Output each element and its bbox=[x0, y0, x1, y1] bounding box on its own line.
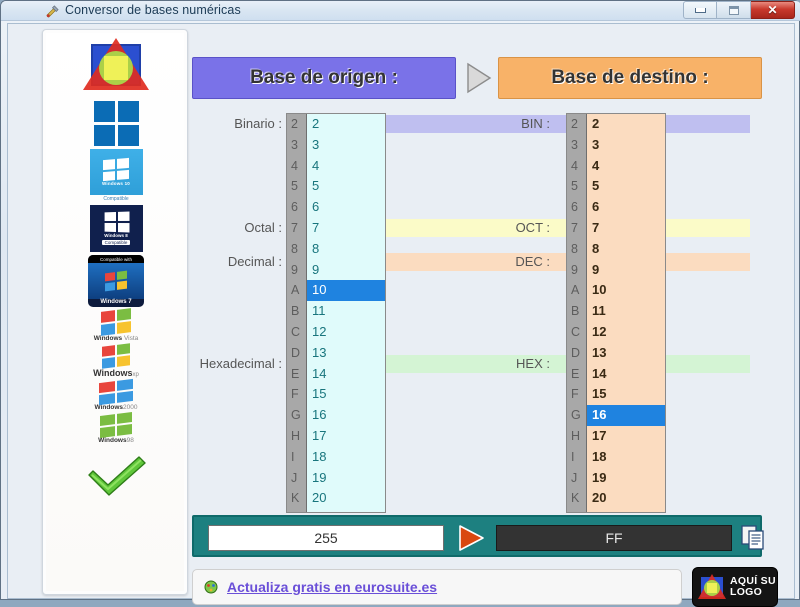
minimize-icon bbox=[695, 8, 706, 13]
maximize-button[interactable] bbox=[717, 1, 751, 19]
gutter-key: 7 bbox=[287, 218, 306, 239]
list-item[interactable]: 14 bbox=[587, 364, 665, 385]
source-value-input[interactable]: 255 bbox=[208, 525, 444, 551]
windows-8-label: Windows 8 bbox=[104, 233, 127, 238]
list-item[interactable]: 16 bbox=[307, 405, 385, 426]
gutter-key: C bbox=[287, 322, 306, 343]
list-item[interactable]: 5 bbox=[307, 176, 385, 197]
source-gutter-keys: 23456789ABCDEFGHIJKLNMO bbox=[287, 114, 307, 512]
row-label-octal: Octal : bbox=[190, 220, 282, 235]
gutter-key: A bbox=[567, 280, 586, 301]
windows-98-caption: 98 bbox=[127, 437, 134, 444]
list-item[interactable]: 9 bbox=[587, 260, 665, 281]
windows-10-caption: Compatible bbox=[103, 196, 128, 202]
gutter-key: D bbox=[287, 343, 306, 364]
windows-8-compatible-badge: Windows 8 Compatible bbox=[90, 205, 143, 252]
list-item[interactable]: 8 bbox=[587, 239, 665, 260]
gutter-key: B bbox=[287, 301, 306, 322]
dest-base-items[interactable]: 23456789101112131415161718192021222324 bbox=[587, 114, 665, 512]
windows-8-caption: Compatible bbox=[102, 240, 131, 245]
result-value-output: FF bbox=[496, 525, 732, 551]
gutter-key: B bbox=[567, 301, 586, 322]
gutter-key: F bbox=[567, 384, 586, 405]
list-item[interactable]: 21 bbox=[587, 509, 665, 513]
row-label-hex: HEX : bbox=[490, 356, 550, 371]
dest-base-header: Base de destino : bbox=[498, 57, 762, 99]
windows-10-label: Windows 10 bbox=[102, 181, 130, 186]
list-item[interactable]: 6 bbox=[587, 197, 665, 218]
list-item[interactable]: 9 bbox=[307, 260, 385, 281]
row-label-hexadecimal: Hexadecimal : bbox=[190, 356, 282, 371]
gutter-key: 7 bbox=[567, 218, 586, 239]
gutter-key: I bbox=[567, 447, 586, 468]
gutter-key: A bbox=[287, 280, 306, 301]
windows-vista-label: Windows bbox=[94, 335, 122, 342]
gutter-key: 2 bbox=[567, 114, 586, 135]
list-item[interactable]: 5 bbox=[587, 176, 665, 197]
gutter-key: H bbox=[567, 426, 586, 447]
gutter-key: G bbox=[287, 405, 306, 426]
maximize-icon bbox=[729, 6, 739, 15]
windows-xp-label: Windows bbox=[93, 368, 132, 378]
gutter-key: L bbox=[287, 509, 306, 513]
compatibility-sidebar: Windows 10 Compatible Windows 8 Compatib… bbox=[42, 29, 188, 595]
gutter-key: 8 bbox=[287, 239, 306, 260]
list-item[interactable]: 7 bbox=[587, 218, 665, 239]
windows-7-label: Windows 7 bbox=[100, 299, 131, 307]
minimize-button[interactable] bbox=[683, 1, 717, 19]
windows-7-caption: Compatible with bbox=[88, 255, 144, 263]
gutter-key: J bbox=[567, 468, 586, 489]
list-item[interactable]: 20 bbox=[587, 488, 665, 509]
list-item[interactable]: 8 bbox=[307, 239, 385, 260]
gutter-key: C bbox=[567, 322, 586, 343]
close-button[interactable]: ✕ bbox=[751, 1, 795, 19]
gutter-key: K bbox=[567, 488, 586, 509]
gutter-key: E bbox=[287, 364, 306, 385]
gutter-key: 3 bbox=[567, 135, 586, 156]
windows-vista-badge: Windows Vista bbox=[94, 310, 139, 342]
list-item[interactable]: 20 bbox=[307, 488, 385, 509]
list-item[interactable]: 18 bbox=[307, 447, 385, 468]
title-bar[interactable]: Conversor de bases numéricas ✕ bbox=[1, 1, 800, 21]
update-icon bbox=[203, 579, 219, 595]
list-item[interactable]: 7 bbox=[307, 218, 385, 239]
gutter-key: 4 bbox=[567, 156, 586, 177]
list-item[interactable]: 12 bbox=[587, 322, 665, 343]
triangle-right-icon bbox=[462, 61, 494, 95]
source-base-header: Base de origen : bbox=[192, 57, 456, 99]
sponsor-logo-icon bbox=[697, 572, 727, 602]
gutter-key: 6 bbox=[287, 197, 306, 218]
list-item[interactable]: 16 bbox=[587, 405, 665, 426]
dest-base-listbox[interactable]: 23456789ABCDEFGHIJKLNMO 2345678910111213… bbox=[566, 113, 666, 513]
windows-vista-caption: Vista bbox=[124, 335, 138, 342]
gutter-key: D bbox=[567, 343, 586, 364]
list-item[interactable]: 3 bbox=[307, 135, 385, 156]
dest-gutter-keys: 23456789ABCDEFGHIJKLNMO bbox=[567, 114, 587, 512]
gutter-key: 5 bbox=[567, 176, 586, 197]
list-item[interactable]: 13 bbox=[587, 343, 665, 364]
source-base-items[interactable]: 23456789101112131415161718192021222324 bbox=[307, 114, 385, 512]
gutter-key: 3 bbox=[287, 135, 306, 156]
list-item[interactable]: 3 bbox=[587, 135, 665, 156]
gutter-key: F bbox=[287, 384, 306, 405]
close-icon: ✕ bbox=[767, 3, 777, 17]
gutter-key: G bbox=[567, 405, 586, 426]
client-area: Windows 10 Compatible Windows 8 Compatib… bbox=[7, 23, 795, 599]
source-base-listbox[interactable]: 23456789ABCDEFGHIJKLNMO 2345678910111213… bbox=[286, 113, 386, 513]
gutter-key: I bbox=[287, 447, 306, 468]
badge-list: Windows 10 Compatible Windows 8 Compatib… bbox=[43, 36, 188, 497]
list-item[interactable]: 18 bbox=[587, 447, 665, 468]
windows-11-logo bbox=[94, 101, 139, 146]
gutter-key: 9 bbox=[567, 260, 586, 281]
windows-10-compatible-badge: Windows 10 Compatible bbox=[90, 149, 143, 202]
row-label-binario: Binario : bbox=[190, 116, 282, 131]
sponsor-logo-line2: LOGO bbox=[730, 587, 776, 598]
sponsor-logo-box[interactable]: AQUÍ SU LOGO bbox=[692, 567, 778, 607]
list-item[interactable]: 10 bbox=[587, 280, 665, 301]
list-item[interactable]: 17 bbox=[307, 426, 385, 447]
list-item[interactable]: 19 bbox=[587, 468, 665, 489]
list-item[interactable]: 2 bbox=[307, 114, 385, 135]
windows-2000-badge: Windows2000 bbox=[95, 381, 138, 411]
windows-xp-caption: xp bbox=[133, 372, 139, 378]
list-item[interactable]: 15 bbox=[587, 384, 665, 405]
list-item[interactable]: 4 bbox=[587, 156, 665, 177]
list-item[interactable]: 15 bbox=[307, 384, 385, 405]
convert-arrow-icon[interactable] bbox=[456, 524, 486, 552]
app-tools-icon bbox=[45, 4, 60, 19]
list-item[interactable]: 21 bbox=[307, 509, 385, 513]
verified-check-badge bbox=[83, 447, 149, 497]
gutter-key: 8 bbox=[567, 239, 586, 260]
list-item[interactable]: 10 bbox=[307, 280, 385, 301]
converter-panel: Base de origen : Base de destino : Binar… bbox=[190, 29, 790, 595]
gutter-key: 2 bbox=[287, 114, 306, 135]
gutter-key: 5 bbox=[287, 176, 306, 197]
copy-icon[interactable] bbox=[738, 523, 768, 553]
row-label-decimal: Decimal : bbox=[190, 254, 282, 269]
list-item[interactable]: 6 bbox=[307, 197, 385, 218]
window-controls: ✕ bbox=[683, 1, 795, 19]
list-item[interactable]: 11 bbox=[587, 301, 665, 322]
window-title: Conversor de bases numéricas bbox=[65, 3, 241, 17]
app-logo bbox=[79, 36, 153, 98]
gutter-key: 6 bbox=[567, 197, 586, 218]
row-label-bin: BIN : bbox=[490, 116, 550, 131]
list-item[interactable]: 13 bbox=[307, 343, 385, 364]
gutter-key: L bbox=[567, 509, 586, 513]
windows-98-label: Windows bbox=[98, 437, 126, 444]
gutter-key: J bbox=[287, 468, 306, 489]
gutter-key: 4 bbox=[287, 156, 306, 177]
windows-7-compatible-badge: Compatible with Windows 7 bbox=[88, 255, 144, 307]
row-label-dec: DEC : bbox=[490, 254, 550, 269]
list-item[interactable]: 11 bbox=[307, 301, 385, 322]
list-item[interactable]: 14 bbox=[307, 364, 385, 385]
list-item[interactable]: 17 bbox=[587, 426, 665, 447]
gutter-key: H bbox=[287, 426, 306, 447]
gutter-key: 9 bbox=[287, 260, 306, 281]
app-window: Conversor de bases numéricas ✕ bbox=[0, 0, 800, 600]
windows-2000-caption: 2000 bbox=[123, 404, 137, 411]
list-item[interactable]: 2 bbox=[587, 114, 665, 135]
gutter-key: E bbox=[567, 364, 586, 385]
gutter-key: K bbox=[287, 488, 306, 509]
conversion-bar: 255 FF bbox=[192, 515, 762, 557]
update-link[interactable]: Actualiza gratis en eurosuite.es bbox=[227, 579, 437, 595]
list-item[interactable]: 19 bbox=[307, 468, 385, 489]
list-item[interactable]: 12 bbox=[307, 322, 385, 343]
windows-98-badge: Windows98 bbox=[98, 414, 134, 444]
list-item[interactable]: 4 bbox=[307, 156, 385, 177]
windows-xp-badge: Windowsxp bbox=[93, 345, 139, 378]
row-label-oct: OCT : bbox=[490, 220, 550, 235]
